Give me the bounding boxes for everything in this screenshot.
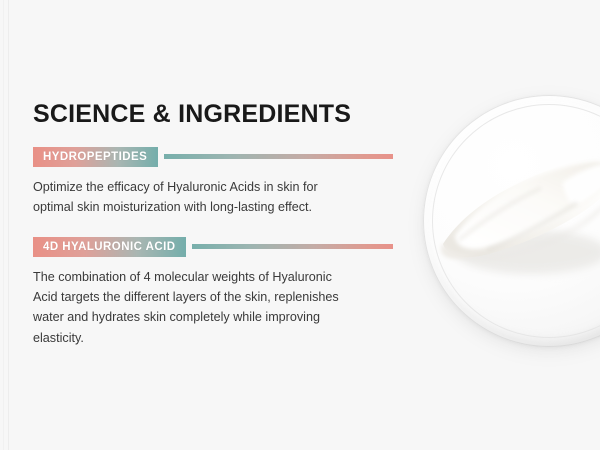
badge-rule [192,244,393,249]
page-title: SCIENCE & INGREDIENTS [33,100,393,129]
badge-row: HYDROPEPTIDES [33,146,393,168]
section-hydropeptides: HYDROPEPTIDES Optimize the efficacy of H… [33,146,393,218]
badge-hydropeptides: HYDROPEPTIDES [33,147,158,167]
image-left-seam [8,0,9,450]
content-column: SCIENCE & INGREDIENTS HYDROPEPTIDES Opti… [33,100,393,352]
section-body-hydropeptides: Optimize the efficacy of Hyaluronic Acid… [33,177,351,218]
cream-swatch [435,148,600,283]
image-left-seam-outer [3,0,4,450]
section-4d-hyaluronic-acid: 4D HYALURONIC ACID The combination of 4 … [33,236,393,349]
badge-row: 4D HYALURONIC ACID [33,236,393,258]
product-photo [405,78,600,363]
badge-4d-hyaluronic-acid: 4D HYALURONIC ACID [33,237,186,257]
section-body-4d-hyaluronic-acid: The combination of 4 molecular weights o… [33,267,351,349]
product-info-banner: SCIENCE & INGREDIENTS HYDROPEPTIDES Opti… [0,0,600,450]
cream-swatch-shape [435,148,600,283]
badge-rule [164,154,393,159]
